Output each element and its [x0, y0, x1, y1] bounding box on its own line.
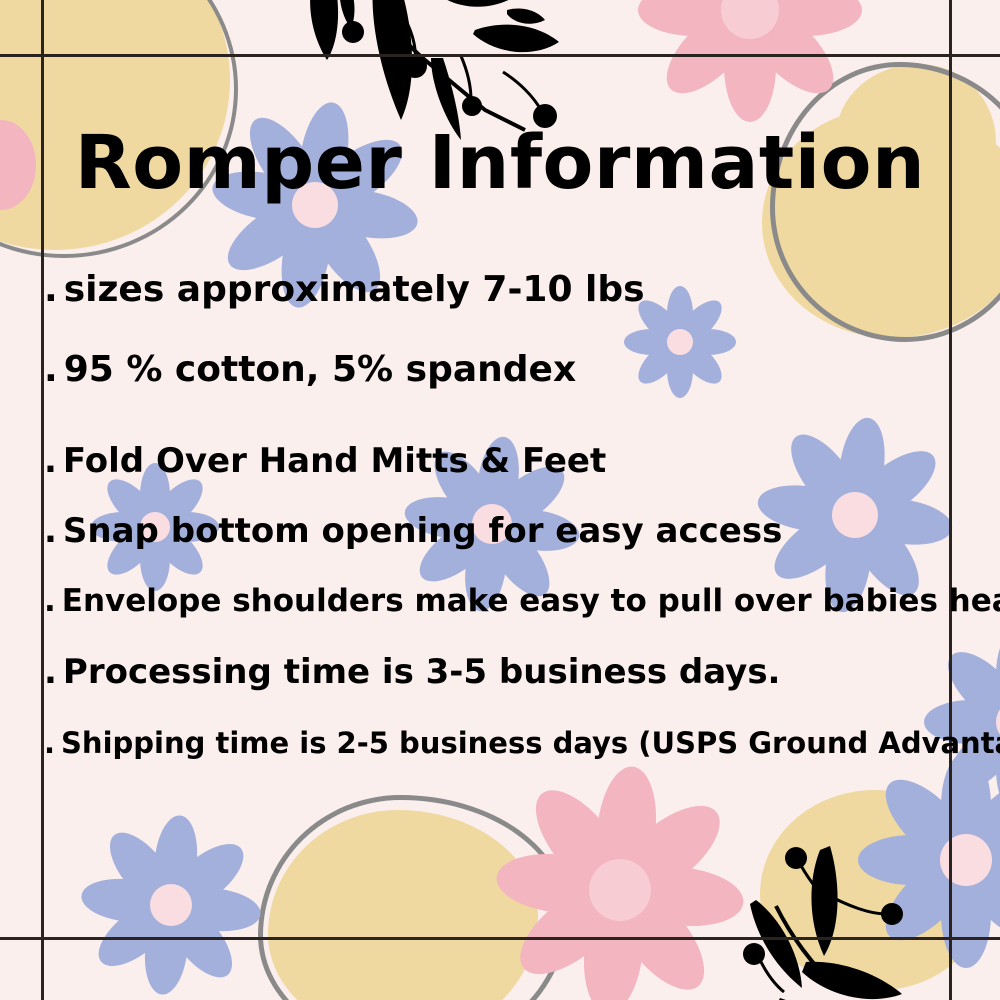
bullet-marker: . — [44, 269, 58, 310]
list-item-label: Shipping time is 2-5 business days (USPS… — [61, 726, 1000, 760]
list-item-label: 95 % cotton, 5% spandex — [64, 349, 576, 390]
page-title: Romper Information — [0, 126, 1000, 200]
bullet-marker: . — [44, 441, 57, 481]
list-item-label: sizes approximately 7-10 lbs — [64, 269, 645, 310]
bullet-marker: . — [44, 583, 56, 619]
list-item: .Envelope shoulders make easy to pull ov… — [44, 586, 984, 617]
list-item-label: Processing time is 3-5 business days. — [63, 652, 781, 692]
list-item-label: Envelope shoulders make easy to pull ove… — [62, 583, 1000, 619]
text-content: Romper Information .sizes approximately … — [0, 0, 1000, 1000]
list-item-label: Snap bottom opening for easy access — [63, 511, 782, 551]
list-item: .Fold Over Hand Mitts & Feet — [44, 444, 984, 478]
list-item: .95 % cotton, 5% spandex — [44, 352, 984, 388]
list-item: .Shipping time is 2-5 business days (USP… — [44, 729, 984, 758]
list-item: .Processing time is 3-5 business days. — [44, 655, 984, 689]
romper-information-graphic: Romper Information .sizes approximately … — [0, 0, 1000, 1000]
romper-details-list: .sizes approximately 7-10 lbs .95 % cott… — [44, 272, 984, 758]
bullet-marker: . — [44, 349, 58, 390]
list-item: .sizes approximately 7-10 lbs — [44, 272, 984, 308]
bullet-marker: . — [44, 652, 57, 692]
bullet-marker: . — [44, 511, 57, 551]
list-item: .Snap bottom opening for easy access — [44, 514, 984, 548]
list-item-label: Fold Over Hand Mitts & Feet — [63, 441, 606, 481]
bullet-marker: . — [44, 726, 55, 760]
